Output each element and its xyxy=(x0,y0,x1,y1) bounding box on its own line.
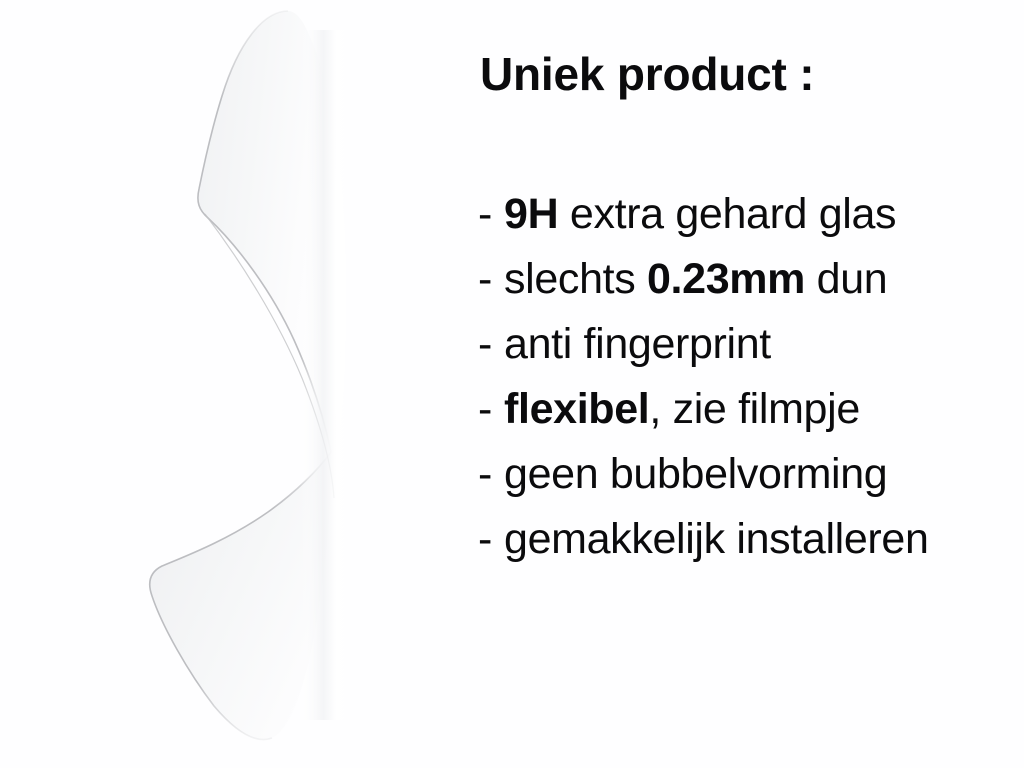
page-title: Uniek product : xyxy=(480,47,814,101)
feature-text-3: anti fingerprint xyxy=(504,320,771,368)
twisted-tempered-glass-screen-protector-icon xyxy=(0,0,470,768)
list-item: -flexibel, zie filmpje xyxy=(478,377,929,442)
bullet-marker: - xyxy=(478,507,504,572)
bullet-marker: - xyxy=(478,377,504,442)
feature-text-4: flexibel, zie filmpje xyxy=(504,385,860,433)
product-promo-image: Uniek product : -9H extra gehard glas -s… xyxy=(0,0,1024,768)
list-item: -anti fingerprint xyxy=(478,312,929,377)
bullet-marker: - xyxy=(478,182,504,247)
product-image xyxy=(0,0,470,768)
feature-text-2: slechts 0.23mm dun xyxy=(504,255,887,303)
list-item: -geen bubbelvorming xyxy=(478,442,929,507)
feature-list: -9H extra gehard glas -slechts 0.23mm du… xyxy=(478,182,929,572)
glass-specular-highlight xyxy=(300,30,358,720)
bullet-marker: - xyxy=(478,247,504,312)
feature-text-1: 9H extra gehard glas xyxy=(504,190,896,238)
product-copy: Uniek product : -9H extra gehard glas -s… xyxy=(478,0,1024,768)
list-item: -slechts 0.23mm dun xyxy=(478,247,929,312)
feature-text-5: geen bubbelvorming xyxy=(504,450,887,498)
list-item: -9H extra gehard glas xyxy=(478,182,929,247)
bullet-marker: - xyxy=(478,312,504,377)
list-item: -gemakkelijk installeren xyxy=(478,507,929,572)
bullet-marker: - xyxy=(478,442,504,507)
feature-text-6: gemakkelijk installeren xyxy=(504,515,929,563)
